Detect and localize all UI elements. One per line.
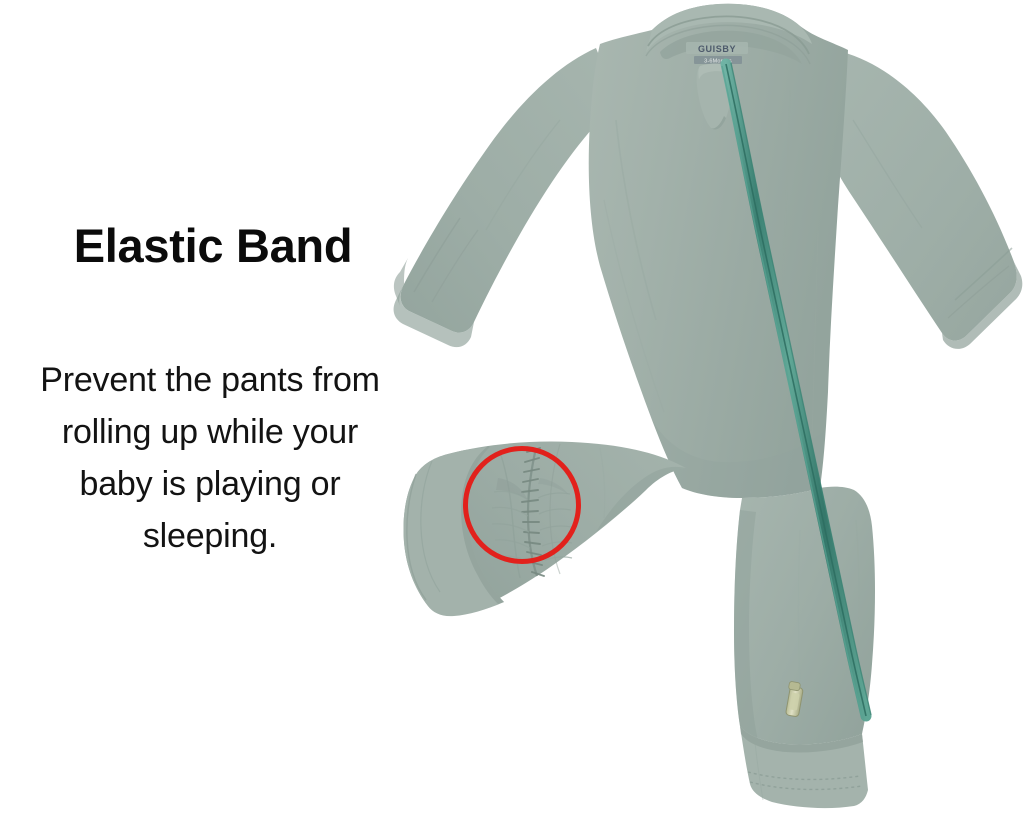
romper-torso: GUISBY 3-6Months [589,4,848,498]
page-title: Elastic Band [0,222,420,269]
feature-text-block: Elastic Band Prevent the pants from roll… [0,222,420,269]
product-feature-image: GUISBY 3-6Months [0,0,1024,815]
description-line-4: sleeping. [0,510,420,562]
description-line-3: baby is playing or [0,458,420,510]
svg-text:GUISBY: GUISBY [698,44,736,54]
description-line-2: rolling up while your [0,406,420,458]
left-leg [403,442,686,617]
left-sleeve [394,48,618,347]
brand-label: GUISBY 3-6Months [686,42,748,65]
feature-description: Prevent the pants from rolling up while … [0,354,420,562]
description-line-1: Prevent the pants from [0,354,420,406]
